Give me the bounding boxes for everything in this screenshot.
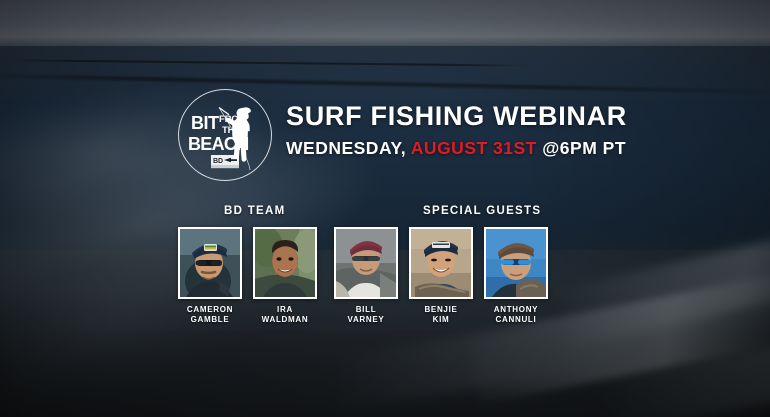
person-last-name: GAMBLE [178,315,242,325]
photo-frame [178,227,242,299]
people-row: CAMERON GAMBLE [178,227,548,325]
brand-logo: BIT FROM THE BEACH BD [178,89,272,181]
logo-wordmark: BIT FROM THE BEACH BD [178,89,272,181]
logo-inner: BIT FROM THE BEACH BD [178,89,272,181]
person-last-name: CANNULI [484,315,548,325]
person-first-name: BILL [334,305,398,315]
person-last-name: KIM [409,315,473,325]
person-first-name: CAMERON [178,305,242,315]
portrait-benjie-kim [411,229,471,297]
logo-line-beach: BEACH [188,134,249,154]
photo-frame [409,227,473,299]
webinar-promo-banner: BIT FROM THE BEACH BD [0,0,770,417]
person-card: BILL VARNEY [334,227,398,325]
group-bd-team: CAMERON GAMBLE [178,227,317,325]
portrait-photo [336,229,396,297]
photo-frame [484,227,548,299]
portrait-photo [411,229,471,297]
person-last-name: VARNEY [334,315,398,325]
banner-content: BIT FROM THE BEACH BD [0,0,770,417]
person-first-name: IRA [253,305,317,315]
group-special-guests: BILL VARNEY [334,227,548,325]
portrait-bill-varney [336,229,396,297]
person-name: IRA WALDMAN [253,305,317,325]
portrait-photo [486,229,546,297]
portrait-photo [255,229,315,297]
person-first-name: BENJIE [409,305,473,315]
datetime-prefix: WEDNESDAY, [286,138,411,158]
portrait-photo [180,229,240,297]
person-name: BILL VARNEY [334,305,398,325]
person-card: BENJIE KIM [409,227,473,325]
logo-line-from: FROM [219,114,246,125]
logo-line-bit: BIT [191,113,219,133]
portrait-anthony-cannuli [486,229,546,297]
photo-frame [334,227,398,299]
group-heading-special-guests: SPECIAL GUESTS [423,205,541,217]
person-card: ANTHONY CANNULI [484,227,548,325]
person-card: CAMERON GAMBLE [178,227,242,325]
person-name: ANTHONY CANNULI [484,305,548,325]
datetime-suffix: @6PM PT [537,138,626,158]
group-heading-bd-team: BD TEAM [224,205,286,217]
portrait-cameron-gamble [180,229,240,297]
person-card: IRA WALDMAN [253,227,317,325]
person-name: BENJIE KIM [409,305,473,325]
svg-text:BD: BD [213,158,223,165]
person-name: CAMERON GAMBLE [178,305,242,325]
person-last-name: WALDMAN [253,315,317,325]
event-datetime: WEDNESDAY, AUGUST 31ST @6PM PT [286,140,627,158]
bd-outdoors-badge: BD [211,155,239,168]
person-first-name: ANTHONY [484,305,548,315]
datetime-date-accent: AUGUST 31ST [411,138,537,158]
photo-frame [253,227,317,299]
portrait-ira-waldman [255,229,315,297]
headline-block: SURF FISHING WEBINAR WEDNESDAY, AUGUST 3… [286,103,627,158]
page-title: SURF FISHING WEBINAR [286,103,627,130]
